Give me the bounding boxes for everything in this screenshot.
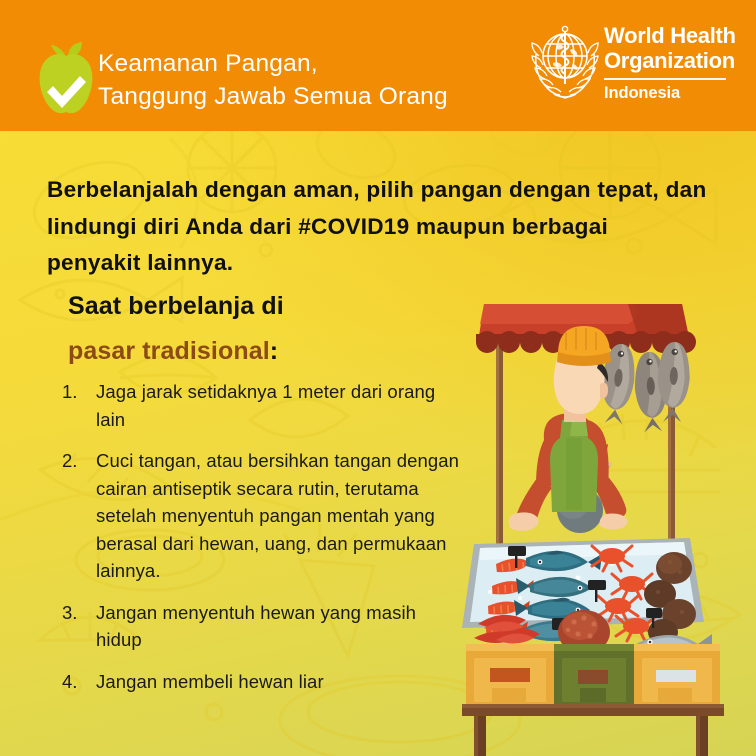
who-name-line1: World Health: [604, 24, 728, 49]
who-wordmark: World Health Organization Indonesia: [604, 24, 728, 103]
list-item-number: 3.: [62, 599, 96, 654]
list-item-number: 1.: [62, 378, 96, 433]
list-item-number: 4.: [62, 668, 96, 696]
campaign-title-line2: Tanggung Jawab Semua Orang: [98, 80, 448, 113]
campaign-title: Keamanan Pangan, Tanggung Jawab Semua Or…: [98, 47, 448, 113]
campaign-title-line1: Keamanan Pangan,: [98, 47, 448, 80]
list-item-text: Jangan membeli hewan liar: [96, 668, 324, 696]
list-item: 3. Jangan menyentuh hewan yang masih hid…: [62, 599, 462, 654]
advice-list: 1. Jaga jarak setidaknya 1 meter dari or…: [62, 378, 462, 709]
poster-canvas: Keamanan Pangan, Tanggung Jawab Semua Or…: [0, 0, 756, 756]
poster-header: Keamanan Pangan, Tanggung Jawab Semua Or…: [0, 0, 756, 131]
list-item-text: Jangan menyentuh hewan yang masih hidup: [96, 599, 462, 654]
who-country: Indonesia: [604, 84, 728, 103]
traditional-fish-market-stall-illustration: [460, 292, 756, 682]
who-name-line2: Organization: [604, 49, 728, 74]
who-divider: [604, 78, 726, 80]
subheading-colon: :: [270, 337, 278, 365]
who-logo: World Health Organization Indonesia: [528, 22, 728, 112]
list-item: 4. Jangan membeli hewan liar: [62, 668, 462, 696]
subheading-primary: Saat berbelanja di: [68, 292, 284, 321]
list-item-text: Jaga jarak setidaknya 1 meter dari orang…: [96, 378, 462, 433]
list-item: 2. Cuci tangan, atau bersihkan tangan de…: [62, 447, 462, 585]
headline: Berbelanjalah dengan aman, pilih pangan …: [47, 172, 707, 282]
vendor-figure: [509, 326, 628, 531]
list-item: 1. Jaga jarak setidaknya 1 meter dari or…: [62, 378, 462, 433]
list-item-text: Cuci tangan, atau bersihkan tangan denga…: [96, 447, 462, 585]
list-item-number: 2.: [62, 447, 96, 585]
subheading-secondary: pasar tradisional:: [68, 337, 278, 366]
who-emblem-icon: [528, 22, 602, 102]
subheading-secondary-text: pasar tradisional: [68, 337, 270, 365]
apple-check-icon: [35, 40, 97, 118]
hanging-fish: [598, 341, 691, 432]
headline-hashtag: #COVID19: [298, 214, 409, 239]
